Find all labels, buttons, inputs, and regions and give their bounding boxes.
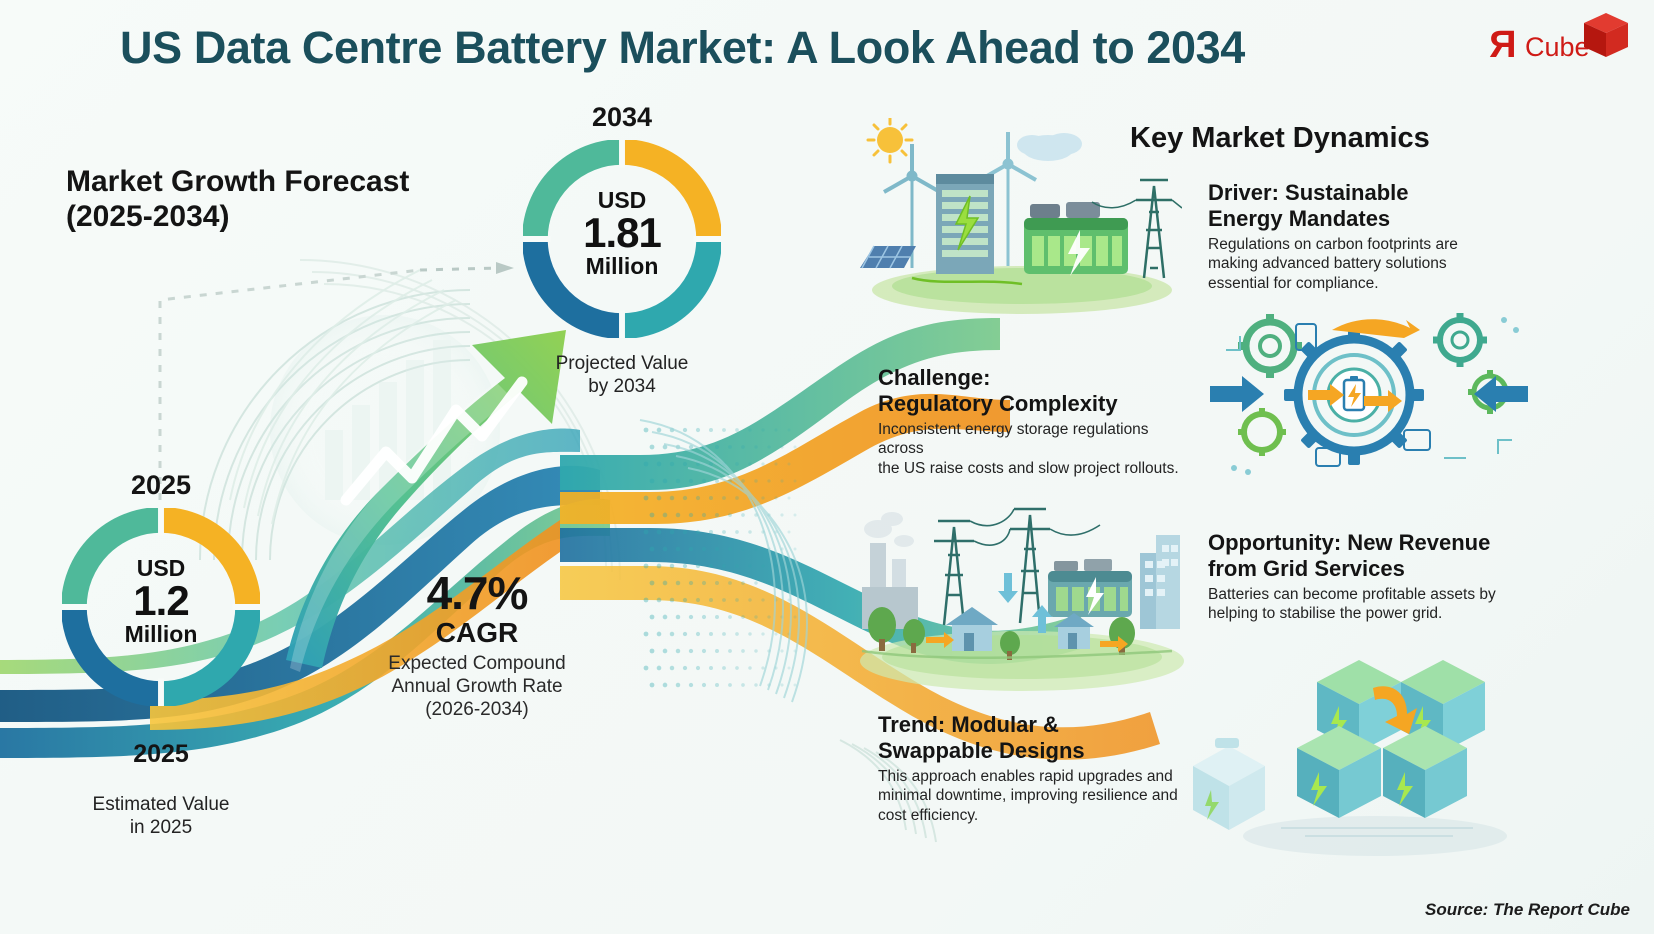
donut-2025-value: 1.2 — [62, 580, 260, 622]
brand-logo[interactable]: R Cube — [1489, 8, 1634, 70]
dynamics-card-driver: Driver: Sustainable Energy Mandates Regu… — [1208, 180, 1470, 293]
infographic-canvas: US Data Centre Battery Market: A Look Ah… — [0, 0, 1654, 934]
donut-2034: 2034 USD 1.81 Million Projected Value by… — [523, 140, 721, 338]
cagr-label: CAGR — [352, 617, 602, 649]
cagr-description: Expected Compound Annual Growth Rate (20… — [352, 653, 602, 721]
donut-2025-unit: Million — [62, 622, 260, 647]
gears-battery-icon — [1204, 300, 1534, 490]
dynamics-card-opportunity: Opportunity: New Revenue from Grid Servi… — [1208, 530, 1500, 624]
modular-battery-blocks-icon — [1185, 630, 1515, 860]
data-centre-renewables-icon — [852, 118, 1182, 318]
driver-title: Driver: Sustainable Energy Mandates — [1208, 180, 1470, 232]
source-credit: Source: The Report Cube — [1425, 900, 1630, 920]
donut-2025: 2025 USD 1.2 Million 2025 Estimated Valu… — [62, 508, 260, 706]
trend-title: Trend: Modular & Swappable Designs — [878, 712, 1178, 764]
cagr-percent: 4.7% — [352, 570, 602, 616]
logo-r-glyph: R — [1489, 24, 1516, 67]
donut-2025-caption-text: Estimated Value in 2025 — [93, 794, 230, 838]
challenge-body: Inconsistent energy storage regulations … — [878, 420, 1198, 479]
donut-2025-year: 2025 — [62, 470, 260, 501]
trend-body: This approach enables rapid upgrades and… — [878, 767, 1178, 826]
dynamics-card-trend: Trend: Modular & Swappable Designs This … — [878, 712, 1178, 825]
donut-2034-value: 1.81 — [523, 212, 721, 254]
donut-2025-caption: 2025 Estimated Value in 2025 — [46, 716, 276, 839]
donut-2034-caption: Projected Value by 2034 — [507, 352, 737, 398]
market-growth-heading: Market Growth Forecast (2025-2034) — [66, 165, 409, 235]
donut-2034-year: 2034 — [523, 102, 721, 133]
cagr-block: 4.7% CAGR Expected Compound Annual Growt… — [352, 570, 602, 722]
opportunity-body: Batteries can become profitable assets b… — [1208, 585, 1500, 624]
power-grid-city-icon — [852, 475, 1192, 695]
driver-body: Regulations on carbon footprints are mak… — [1208, 235, 1470, 294]
donut-2025-caption-title: 2025 — [46, 739, 276, 770]
dynamics-card-challenge: Challenge: Regulatory Complexity Inconsi… — [878, 365, 1198, 478]
cube-icon — [1580, 10, 1632, 62]
opportunity-title: Opportunity: New Revenue from Grid Servi… — [1208, 530, 1500, 582]
page-title: US Data Centre Battery Market: A Look Ah… — [120, 22, 1245, 74]
challenge-title: Challenge: Regulatory Complexity — [878, 365, 1198, 417]
donut-2034-unit: Million — [523, 254, 721, 279]
